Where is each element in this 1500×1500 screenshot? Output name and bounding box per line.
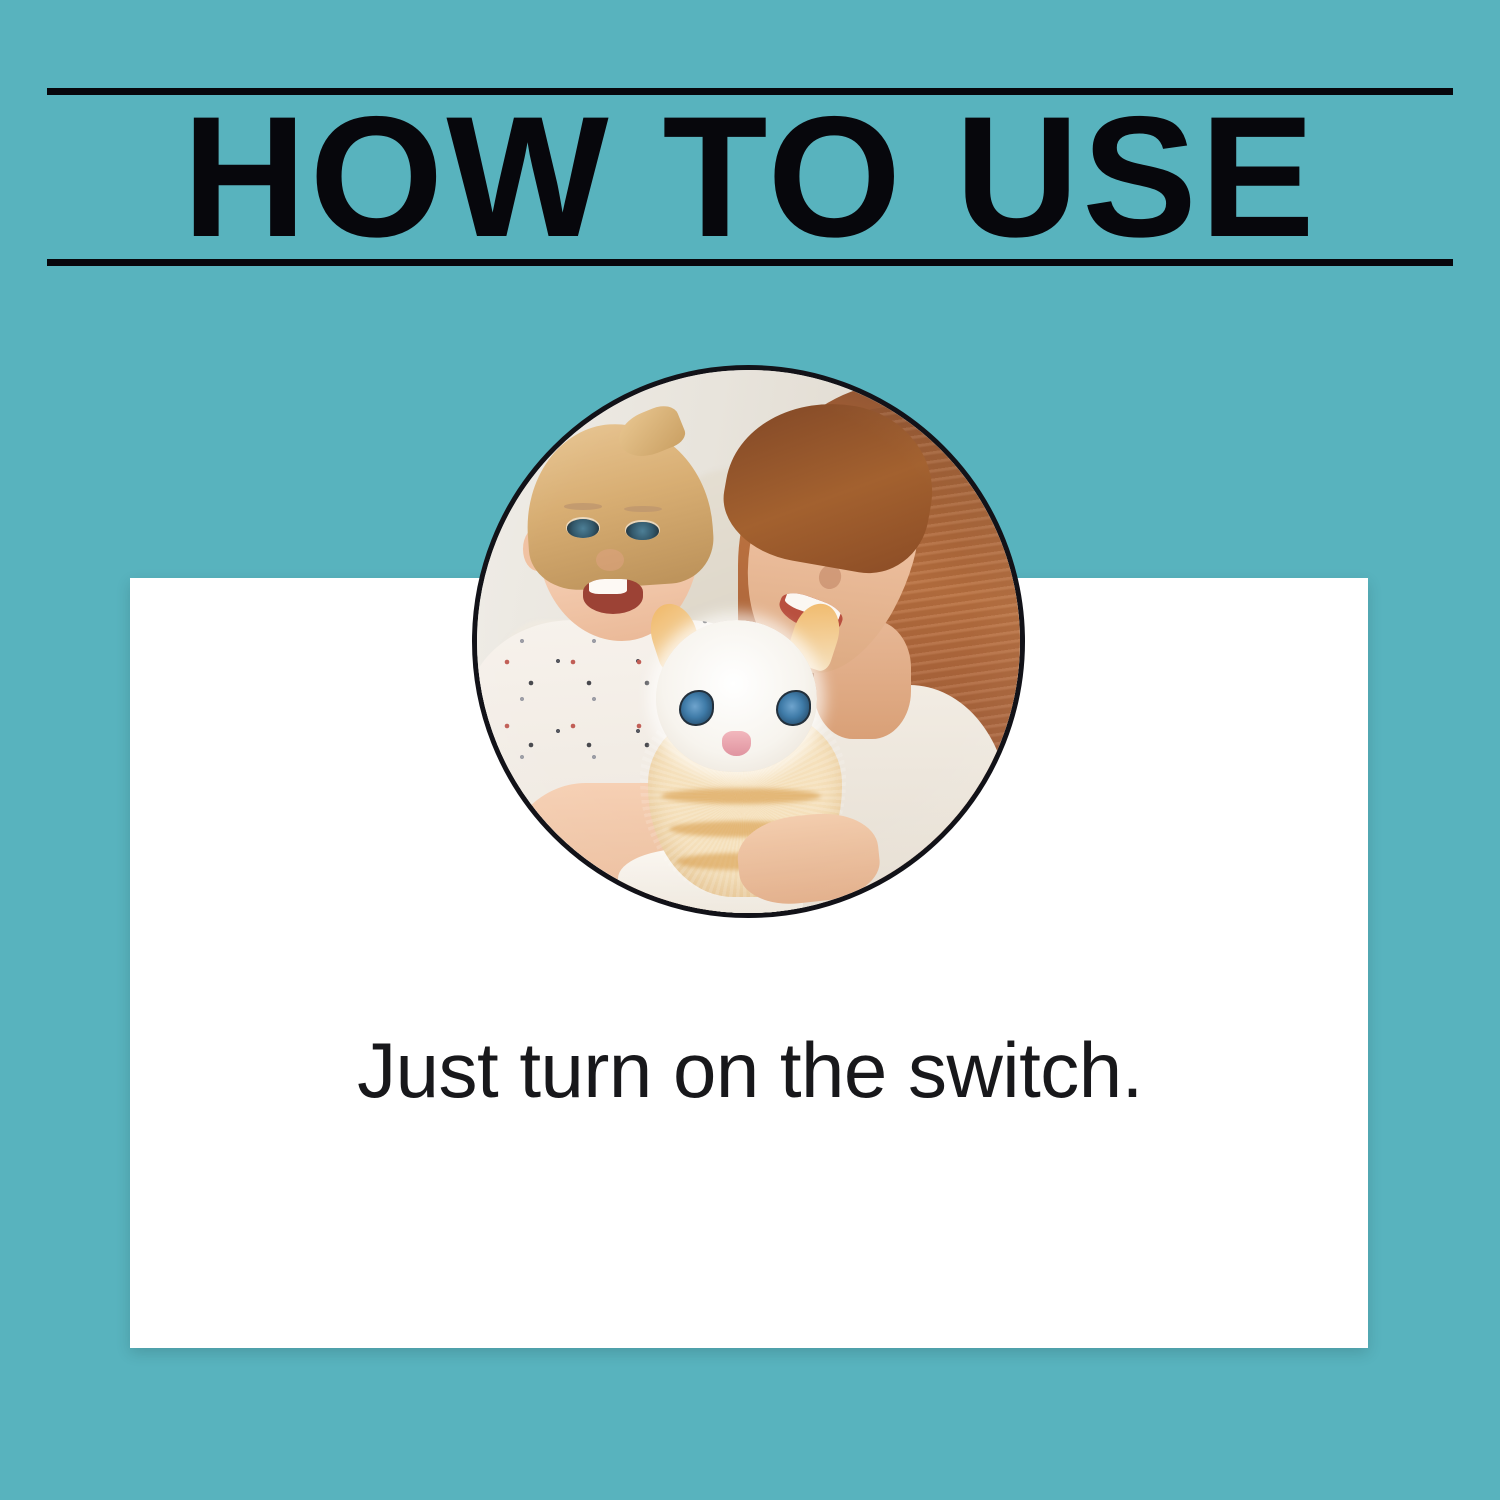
photo-scene [477, 370, 1020, 913]
lifestyle-photo [472, 365, 1025, 918]
toddler-nose [596, 549, 623, 571]
cat-eye-left [679, 690, 714, 725]
toddler-eyebrow-left [564, 503, 602, 510]
cat-eye-right [776, 690, 811, 725]
page-title: HOW TO USE [47, 88, 1453, 266]
toddler-eye-left [567, 519, 600, 537]
instruction-caption: Just turn on the switch. [0, 1022, 1500, 1118]
header-block: HOW TO USE [47, 88, 1453, 266]
toddler-teeth [589, 579, 627, 594]
toddler-mouth [583, 579, 643, 614]
cat-nose [722, 731, 751, 755]
how-to-use-panel: HOW TO USE [0, 0, 1500, 1500]
header-rule-bottom [47, 259, 1453, 266]
